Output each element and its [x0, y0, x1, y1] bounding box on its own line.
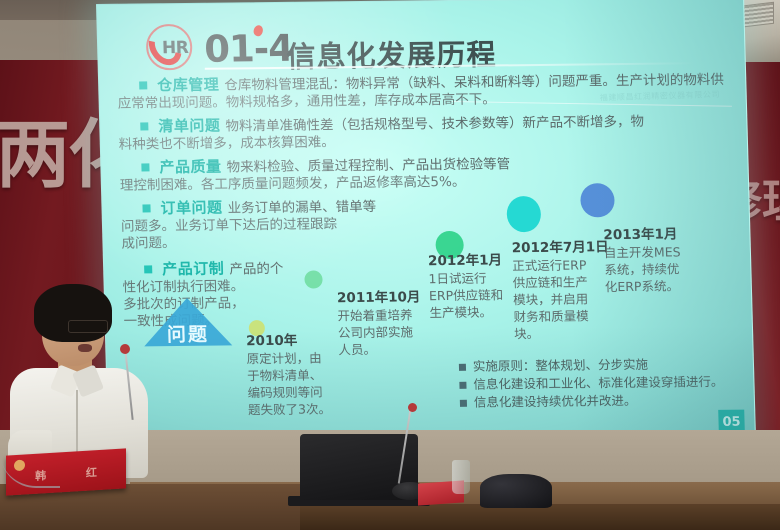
- timeline-body: 正式运行ERP供应链和生产模块，并启用财务和质量模块。: [512, 256, 600, 342]
- list-item: 信息化建设和工业化、标准化建设穿插进行。: [459, 374, 749, 393]
- bullet-marker: [142, 204, 150, 212]
- timeline-date: 2013年1月: [603, 226, 685, 244]
- projection-screen: HR 01-4 信息化发展历程 福建顺昌红润精密仪器有限公司 仓库管理 仓库物料…: [96, 0, 756, 448]
- footer-bullet-text: 信息化建设和工业化、标准化建设穿插进行。: [473, 374, 723, 393]
- list-item: 信息化建设持续优化并改进。: [460, 392, 750, 411]
- timeline-date: 2012年1月: [428, 252, 506, 270]
- bullet-3-lead: 物来料检验、质量过程控制、产品出货检验等管: [226, 156, 510, 175]
- problem-triangle-label: 问题: [148, 319, 229, 347]
- bullet-block-1: 仓库管理 仓库物料管理混乱：物料异常（缺料、呆料和断料等）问题严重。生产计划的物…: [139, 70, 740, 113]
- bullet-5-lead: 产品的个: [229, 261, 283, 278]
- square-bullet-icon: [459, 364, 466, 371]
- water-bottle: [452, 460, 470, 494]
- presenter-glasses-icon: [68, 320, 108, 333]
- bullet-block-2: 清单问题 物料清单准确性差（包括规格型号、技术参数等）新产品不断增多，物 料种类…: [140, 111, 741, 154]
- timeline-item-2012-01: 2012年1月 1日试运行ERP供应链和生产模块。: [428, 252, 508, 321]
- presenter-hair: [34, 284, 112, 342]
- bullet-marker: [139, 81, 147, 89]
- timeline-date: 2010年: [246, 332, 332, 350]
- timeline-item-2013-01: 2013年1月 自主开发MES系统，持续优化ERP系统。: [603, 226, 687, 295]
- bullet-3-head: 产品质量: [159, 158, 222, 177]
- microphone-head-podium: [120, 344, 130, 354]
- desk-object: [480, 474, 552, 508]
- footer-bullet-text: 实施原则：整体规划、分步实施: [473, 357, 648, 375]
- timeline-date: 2012年7月1日: [512, 239, 598, 257]
- bullet-2-head: 清单问题: [158, 117, 221, 136]
- timeline-item-2011-10: 2011年10月 开始着重培养公司内部实施人员。: [337, 289, 419, 358]
- square-bullet-icon: [460, 400, 467, 407]
- timeline-date: 2011年10月: [337, 289, 417, 307]
- bullet-marker: [140, 122, 148, 130]
- timeline-item-2012-07: 2012年7月1日 正式运行ERP供应链和生产模块，并启用财务和质量模块。: [512, 239, 601, 342]
- timeline-body: 开始着重培养公司内部实施人员。: [337, 306, 418, 358]
- bullet-4-head: 订单问题: [160, 199, 223, 218]
- bullet-1-head: 仓库管理: [157, 76, 220, 95]
- slide-title: 信息化发展历程: [286, 31, 497, 75]
- timeline-body: 1日试运行ERP供应链和生产模块。: [428, 269, 507, 321]
- presenter-mouth: [78, 344, 92, 352]
- slide-number: 01-4: [204, 27, 294, 71]
- logo-text: HR: [162, 38, 189, 58]
- list-item: 实施原则：整体规划、分步实施: [459, 356, 749, 375]
- bullet-marker: [141, 163, 149, 171]
- timeline-body: 原定计划，由于物料清单、编码规则等问题失败了3次。: [246, 349, 334, 418]
- bullet-block-3: 产品质量 物来料检验、质量过程控制、产品出货检验等管 理控制困难。各工序质量问题…: [141, 152, 742, 195]
- microphone-head: [408, 403, 417, 412]
- bullet-marker: [144, 265, 152, 273]
- hr-logo-icon: HR: [146, 24, 193, 71]
- presentation-slide: HR 01-4 信息化发展历程 福建顺昌红润精密仪器有限公司 仓库管理 仓库物料…: [96, 0, 756, 448]
- footer-bullet-text: 信息化建设持续优化并改进。: [474, 393, 637, 411]
- timeline-item-2010: 2010年 原定计划，由于物料清单、编码规则等问题失败了3次。: [246, 332, 334, 418]
- timeline-body: 自主开发MES系统，持续优化ERP系统。: [604, 243, 687, 295]
- square-bullet-icon: [459, 382, 466, 389]
- footer-bullet-list: 实施原则：整体规划、分步实施 信息化建设和工业化、标准化建设穿插进行。 信息化建…: [459, 356, 750, 413]
- bullet-5-head: 产品订制: [162, 260, 225, 279]
- bullet-4-lead: 业务订单的漏单、错单等: [227, 199, 376, 217]
- photo-scene: 两化 修理 HR 01-4 信息化发展历程 福建顺昌红润精密仪器有限公司: [0, 0, 780, 530]
